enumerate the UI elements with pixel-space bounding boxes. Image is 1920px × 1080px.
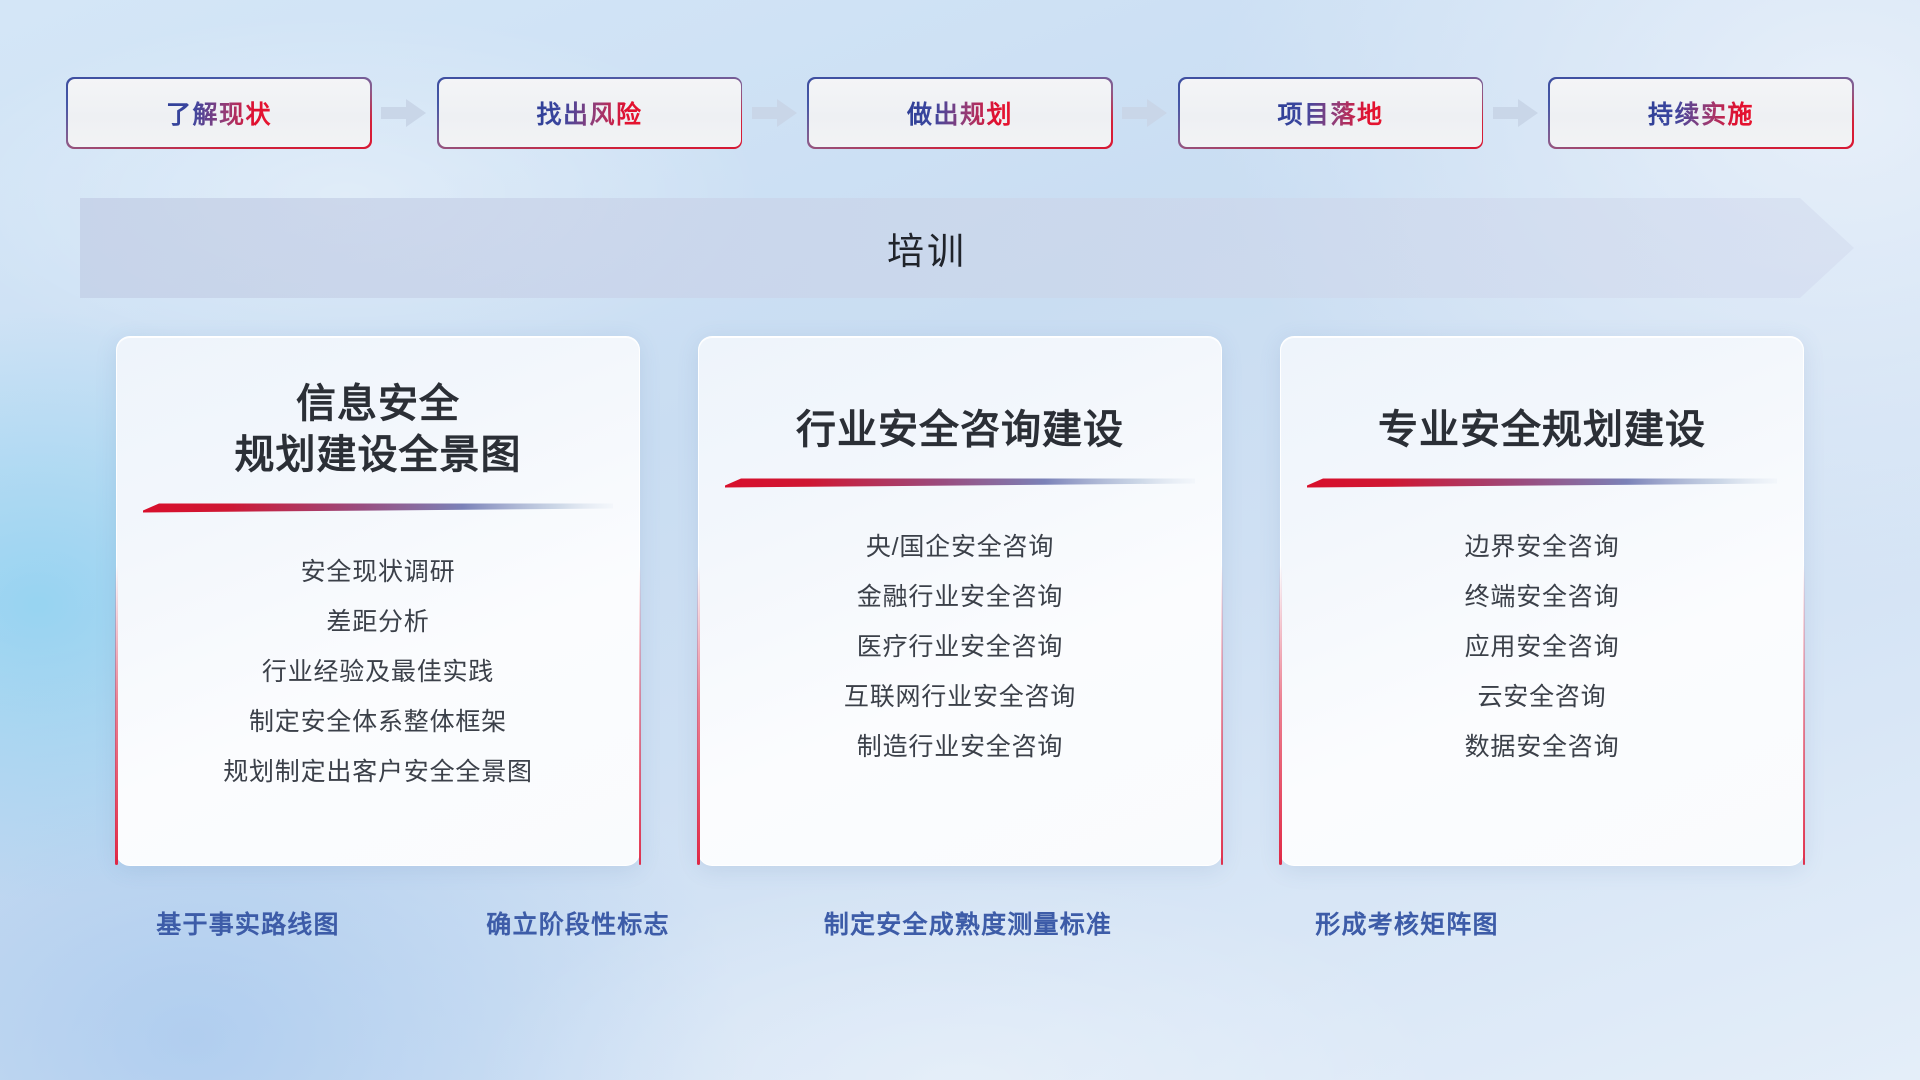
list-item: 安全现状调研 [301, 547, 456, 597]
arrow-right-icon [381, 98, 427, 128]
step-label: 项目落地 [1277, 95, 1383, 131]
card-item-list: 边界安全咨询 终端安全咨询 应用安全咨询 云安全咨询 数据安全咨询 [1307, 522, 1777, 772]
card-info-security-panorama[interactable]: 信息安全 规划建设全景图 [116, 336, 640, 866]
arrow-right-icon [1493, 98, 1539, 128]
list-item: 制定安全体系整体框架 [249, 697, 507, 747]
list-item: 行业经验及最佳实践 [262, 647, 494, 697]
step-box-2[interactable]: 找出风险 [439, 79, 741, 147]
step-label: 找出风险 [536, 95, 642, 131]
step-box-3[interactable]: 做出规划 [809, 79, 1111, 147]
card-title: 行业安全咨询建设 [796, 337, 1124, 456]
card-right-accent-line [1221, 565, 1224, 865]
card-divider [143, 501, 613, 513]
step-connector-4 [1482, 98, 1551, 128]
card-left-accent-line [115, 565, 118, 865]
step-box-4[interactable]: 项目落地 [1180, 79, 1482, 147]
step-connector-2 [741, 98, 810, 128]
list-item: 制造行业安全咨询 [857, 722, 1063, 772]
list-item: 规划制定出客户安全全景图 [223, 747, 533, 797]
gradient-rule-icon [1307, 476, 1777, 488]
step-box-1[interactable]: 了解现状 [68, 79, 370, 147]
caption-row: 基于事实路线图 确立阶段性标志 制定安全成熟度测量标准 形成考核矩阵图 [0, 905, 1920, 955]
card-divider [1307, 476, 1777, 488]
list-item: 边界安全咨询 [1465, 522, 1620, 572]
gradient-rule-icon [725, 476, 1195, 488]
step-connector-1 [370, 98, 439, 128]
step-connector-3 [1111, 98, 1180, 128]
arrow-right-icon [752, 98, 798, 128]
card-title: 信息安全 规划建设全景图 [235, 337, 522, 481]
card-title-line: 规划建设全景图 [235, 430, 522, 481]
card-professional-security-planning[interactable]: 专业安全规划建设 [1280, 336, 1804, 866]
caption-roadmap: 基于事实路线图 [156, 905, 339, 941]
step-label: 做出规划 [907, 95, 1013, 131]
list-item: 差距分析 [326, 597, 429, 647]
card-row: 信息安全 规划建设全景图 [0, 336, 1920, 876]
card-right-accent-line [1803, 565, 1806, 865]
list-item: 终端安全咨询 [1465, 572, 1620, 622]
caption-assessment-matrix: 形成考核矩阵图 [1315, 905, 1498, 941]
card-left-accent-line [1279, 565, 1282, 865]
card-title-line: 行业安全咨询建设 [796, 405, 1124, 456]
gradient-rule-icon [143, 501, 613, 513]
slide-canvas: 了解现状 找出风险 做出规划 项目落地 [0, 0, 1920, 1080]
card-industry-security-consulting[interactable]: 行业安全咨询建设 [698, 336, 1222, 866]
caption-maturity-standard: 制定安全成熟度测量标准 [824, 905, 1112, 941]
list-item: 数据安全咨询 [1465, 722, 1620, 772]
card-right-accent-line [639, 565, 642, 865]
list-item: 医疗行业安全咨询 [857, 622, 1063, 672]
card-title-line: 信息安全 [235, 379, 522, 430]
list-item: 应用安全咨询 [1465, 622, 1620, 672]
arrow-right-icon [1122, 98, 1168, 128]
list-item: 云安全咨询 [1477, 672, 1606, 722]
card-title: 专业安全规划建设 [1378, 337, 1706, 456]
card-divider [725, 476, 1195, 488]
card-left-accent-line [697, 565, 700, 865]
step-box-5[interactable]: 持续实施 [1550, 79, 1852, 147]
card-title-line: 专业安全规划建设 [1378, 405, 1706, 456]
training-banner: 培训 [0, 198, 1920, 298]
caption-milestones: 确立阶段性标志 [486, 905, 669, 941]
list-item: 金融行业安全咨询 [857, 572, 1063, 622]
step-label: 了解现状 [166, 95, 272, 131]
card-item-list: 安全现状调研 差距分析 行业经验及最佳实践 制定安全体系整体框架 规划制定出客户… [143, 547, 613, 797]
list-item: 互联网行业安全咨询 [844, 672, 1076, 722]
step-label: 持续实施 [1648, 95, 1754, 131]
banner-title: 培训 [0, 198, 1854, 298]
list-item: 央/国企安全咨询 [866, 522, 1054, 572]
process-step-row: 了解现状 找出风险 做出规划 项目落地 [68, 78, 1852, 148]
card-item-list: 央/国企安全咨询 金融行业安全咨询 医疗行业安全咨询 互联网行业安全咨询 制造行… [725, 522, 1195, 772]
